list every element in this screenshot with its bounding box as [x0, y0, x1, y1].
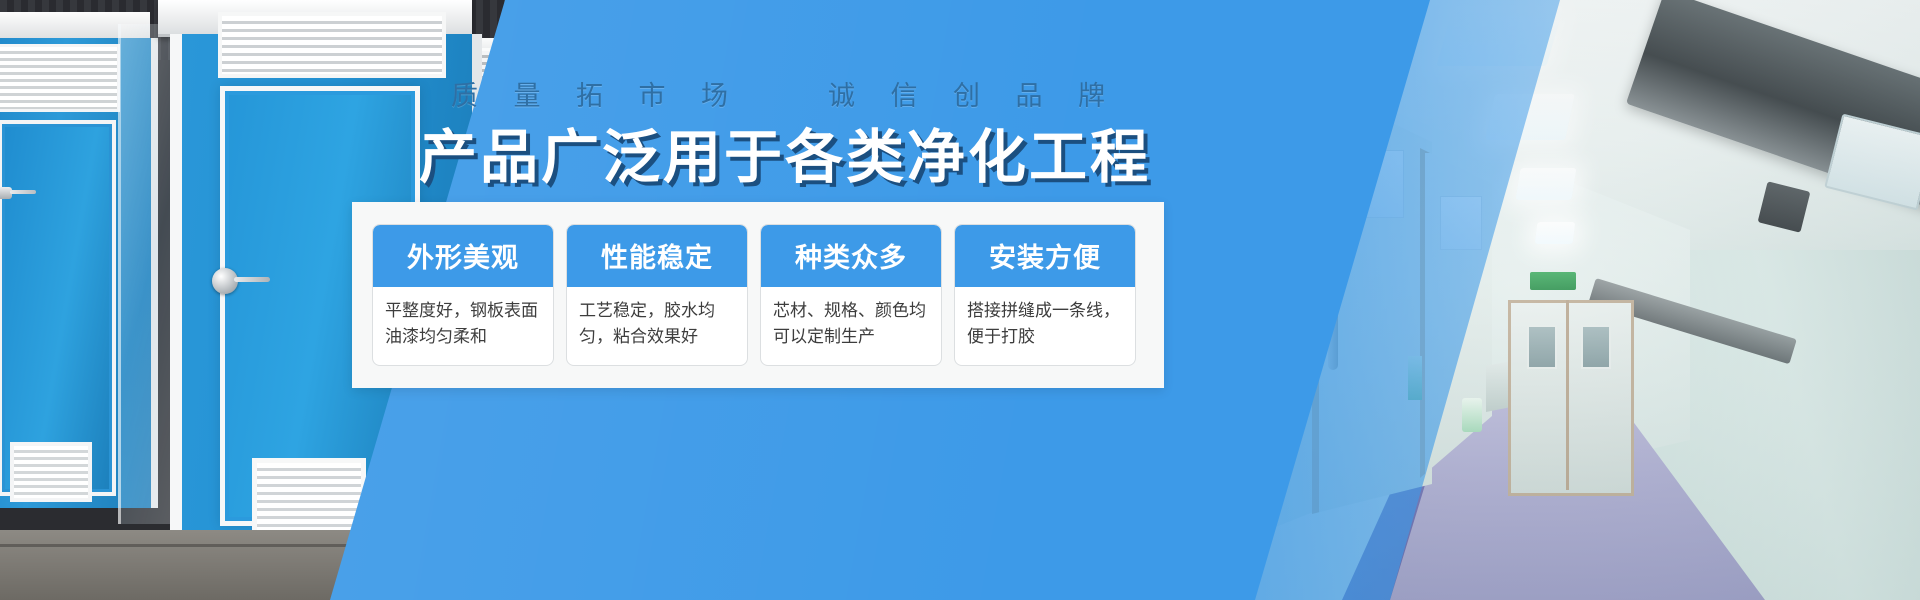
feature-card-title: 性能稳定 — [567, 225, 747, 287]
feature-card-panel: 外形美观 平整度好，钢板表面油漆均匀柔和 性能稳定 工艺稳定，胶水均匀，粘合效果… — [352, 202, 1164, 388]
feature-card-body: 工艺稳定，胶水均匀，粘合效果好 — [567, 287, 747, 365]
feature-card-title: 种类众多 — [761, 225, 941, 287]
banner-subtitle: 质 量 拓 市 场 诚 信 创 品 牌 — [0, 74, 1570, 113]
promo-banner: 质 量 拓 市 场 诚 信 创 品 牌 产品广泛用于各类净化工程 外形美观 平整… — [0, 0, 1920, 600]
feature-card-title: 安装方便 — [955, 225, 1135, 287]
feature-card-body: 搭接拼缝成一条线，便于打胶 — [955, 287, 1135, 365]
feature-card[interactable]: 种类众多 芯材、规格、颜色均可以定制生产 — [760, 224, 942, 366]
feature-card[interactable]: 安装方便 搭接拼缝成一条线，便于打胶 — [954, 224, 1136, 366]
feature-card[interactable]: 外形美观 平整度好，钢板表面油漆均匀柔和 — [372, 224, 554, 366]
feature-card[interactable]: 性能稳定 工艺稳定，胶水均匀，粘合效果好 — [566, 224, 748, 366]
feature-card-title: 外形美观 — [373, 225, 553, 287]
feature-card-body: 平整度好，钢板表面油漆均匀柔和 — [373, 287, 553, 365]
feature-card-body: 芯材、规格、颜色均可以定制生产 — [761, 287, 941, 365]
banner-headline: 产品广泛用于各类净化工程 — [0, 110, 1570, 194]
